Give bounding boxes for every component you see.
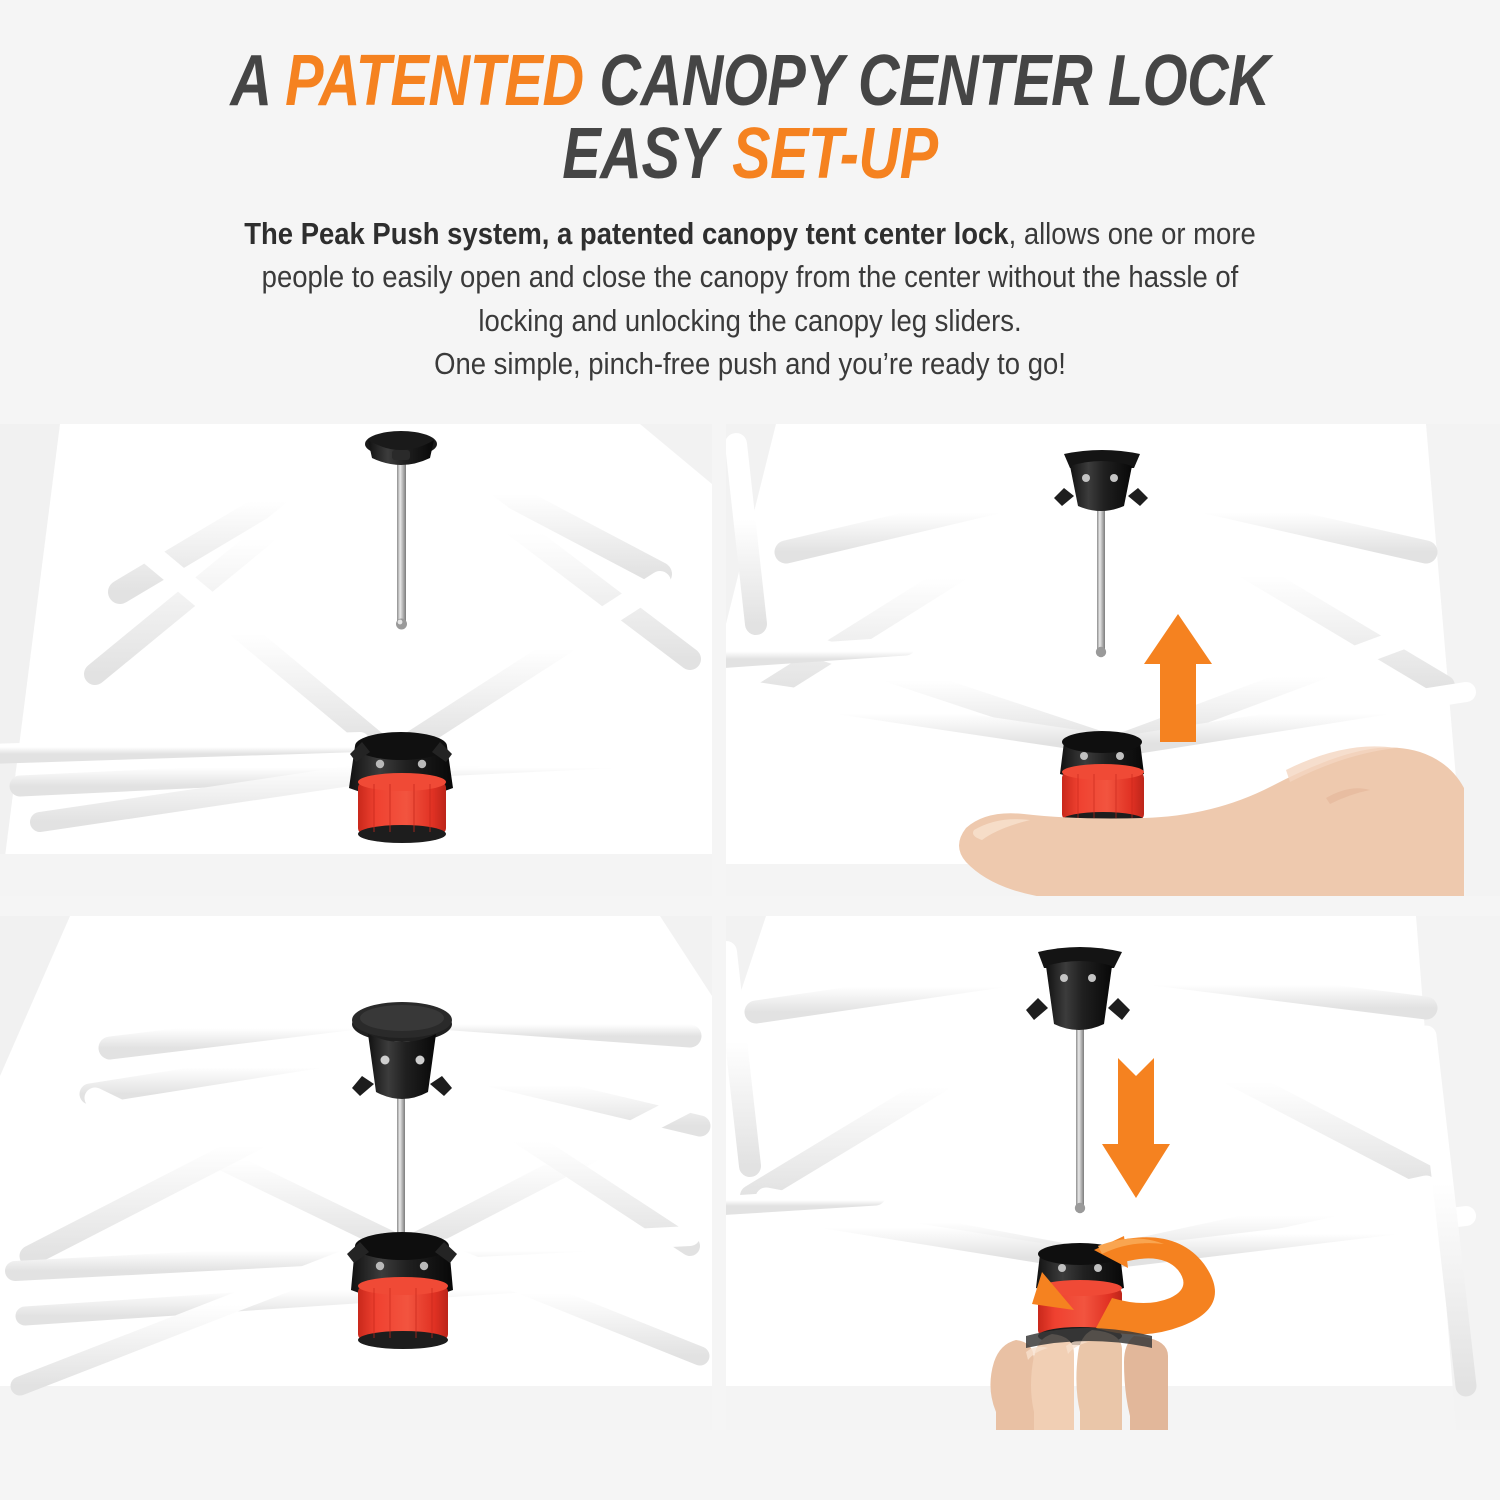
push-rod [396, 452, 407, 630]
panel-grid [0, 424, 1500, 1430]
corner-wedge-bottom [0, 1386, 712, 1430]
title-text-a: A [230, 41, 285, 121]
description-line-4: One simple, pinch-free push and you’re r… [152, 343, 1349, 386]
description-line-2: people to easily open and close the cano… [152, 256, 1349, 299]
panel-bottom-left-illustration [0, 916, 712, 1430]
title-text-b: CANOPY CENTER LOCK [584, 41, 1270, 121]
panel-top-right [726, 424, 1500, 896]
center-lock-hub [347, 1232, 457, 1349]
description-line-1-rest: , allows one or more [1009, 217, 1256, 251]
panel-top-right-illustration [726, 424, 1500, 896]
infographic-page: A PATENTED CANOPY CENTER LOCK EASY SET-U… [0, 0, 1500, 1500]
description-line-3: locking and unlocking the canopy leg sli… [152, 300, 1349, 343]
panel-bottom-right-illustration [726, 916, 1500, 1430]
panel-bottom-left [0, 916, 712, 1430]
header: A PATENTED CANOPY CENTER LOCK EASY SET-U… [0, 0, 1500, 386]
description-paragraph: The Peak Push system, a patented canopy … [85, 213, 1415, 386]
center-lock-hub [1060, 731, 1144, 828]
push-rod [397, 1094, 405, 1242]
title-line-2: EASY SET-UP [150, 119, 1350, 190]
push-rod [1096, 502, 1106, 657]
push-rod [1075, 1026, 1085, 1213]
center-lock-hub [349, 732, 453, 843]
page-title: A PATENTED CANOPY CENTER LOCK EASY SET-U… [150, 46, 1350, 189]
title-highlight-setup: SET-UP [732, 114, 938, 194]
description-line-1: The Peak Push system, a patented canopy … [152, 213, 1349, 256]
description-bold-phrase: The Peak Push system, a patented canopy … [244, 217, 1008, 251]
panel-top-left [0, 424, 712, 896]
title-highlight-patented: PATENTED [285, 41, 584, 121]
panel-top-left-illustration [0, 424, 712, 896]
title-text-c: EASY [562, 114, 732, 194]
title-line-1: A PATENTED CANOPY CENTER LOCK [230, 41, 1269, 121]
panel-bottom-right [726, 916, 1500, 1430]
corner-wedge-bottom [0, 854, 712, 896]
